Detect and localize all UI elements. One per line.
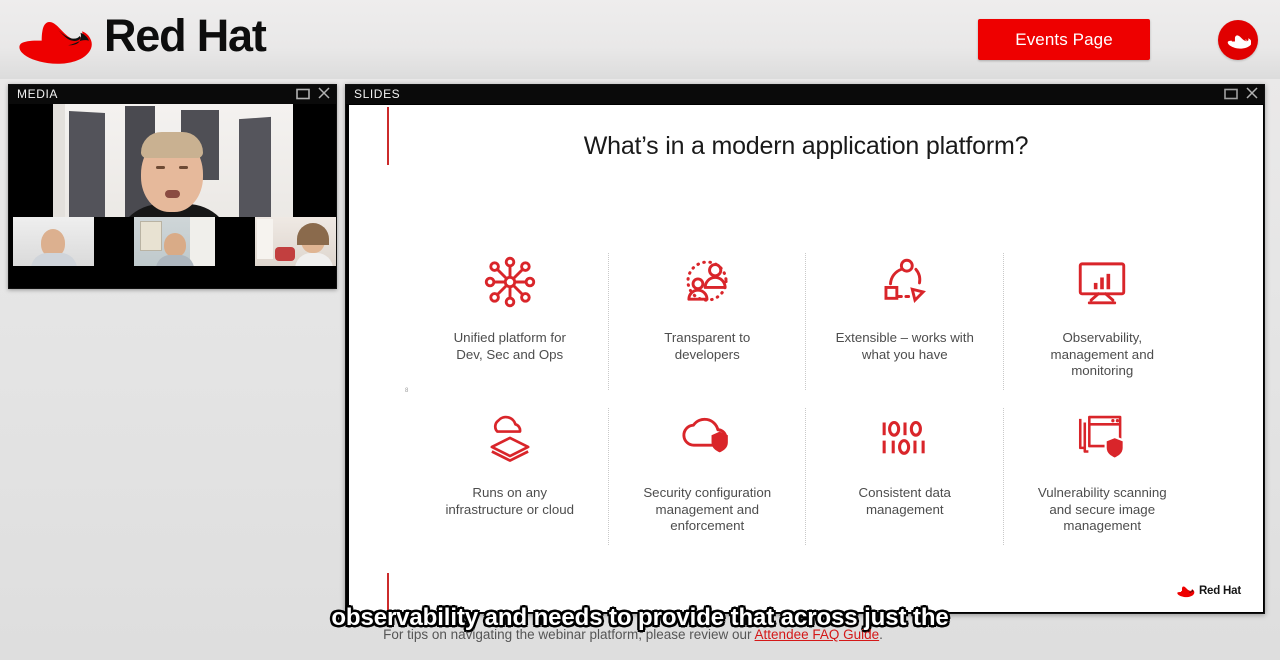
feature-cell: Extensible – works withwhat you have	[806, 245, 1004, 400]
feature-cell: Consistent datamanagement	[806, 400, 1004, 555]
redhat-shadowman-icon[interactable]	[1218, 20, 1258, 60]
brand-logo: Red Hat	[8, 5, 266, 67]
media-panel-titlebar: MEDIA	[9, 85, 336, 104]
close-icon[interactable]	[1245, 86, 1259, 105]
monitor-bar-chart-icon	[1073, 245, 1131, 319]
slide-number: 8	[405, 388, 408, 394]
participant-thumbnails	[9, 217, 336, 266]
slides-panel: SLIDES What’s in a modern application pl…	[345, 84, 1265, 614]
shapes-triangle-circle-square-icon	[876, 245, 934, 319]
feature-label: Extensible – works withwhat you have	[836, 330, 974, 363]
webinar-tips-text: For tips on navigating the webinar platf…	[0, 627, 1280, 642]
stacked-windows-shield-icon	[1073, 400, 1131, 474]
slides-panel-titlebar: SLIDES	[346, 85, 1264, 104]
tips-suffix: .	[879, 627, 883, 642]
slides-panel-title: SLIDES	[354, 87, 400, 101]
list-item[interactable]	[13, 217, 94, 266]
feature-label: Security configurationmanagement andenfo…	[643, 485, 771, 535]
feature-label: Vulnerability scanningand secure imagema…	[1038, 485, 1167, 535]
restore-window-icon[interactable]	[296, 87, 310, 105]
slide-accent-bar-bottom	[387, 573, 389, 612]
restore-window-icon[interactable]	[1224, 87, 1238, 105]
redhat-fedora-logo-icon	[8, 5, 94, 67]
thumbnail-gap	[94, 217, 134, 266]
two-people-circular-arrow-icon	[678, 245, 736, 319]
brand-name: Red Hat	[104, 10, 266, 62]
attendee-faq-guide-link[interactable]: Attendee FAQ Guide	[755, 627, 880, 642]
slide-canvas[interactable]: What’s in a modern application platform?	[349, 105, 1263, 612]
feature-label: Runs on anyinfrastructure or cloud	[445, 485, 574, 518]
feature-label: Consistent datamanagement	[859, 485, 951, 518]
feature-grid: Unified platform forDev, Sec and Ops	[411, 245, 1201, 555]
media-panel-title: MEDIA	[17, 87, 58, 101]
cloud-shield-icon	[678, 400, 736, 474]
feature-cell: Runs on anyinfrastructure or cloud	[411, 400, 609, 555]
cloud-layers-icon	[481, 400, 539, 474]
feature-cell: Security configurationmanagement andenfo…	[609, 400, 807, 555]
page-title: What’s in a modern application platform?	[349, 132, 1263, 161]
feature-label: Observability,management andmonitoring	[1051, 330, 1155, 380]
feature-label: Unified platform forDev, Sec and Ops	[454, 330, 566, 363]
slide-footer-logo-text: Red Hat	[1199, 585, 1241, 597]
slide-footer-logo: Red Hat	[1175, 584, 1241, 598]
app-header: Red Hat Events Page	[0, 0, 1280, 79]
media-panel: MEDIA	[8, 84, 337, 289]
feature-cell: Unified platform forDev, Sec and Ops	[411, 245, 609, 400]
binary-data-icon	[876, 400, 934, 474]
close-icon[interactable]	[317, 86, 331, 105]
feature-cell: Observability,management andmonitoring	[1004, 245, 1202, 400]
events-page-button[interactable]: Events Page	[978, 19, 1150, 60]
feature-cell: Vulnerability scanningand secure imagema…	[1004, 400, 1202, 555]
media-stage	[9, 104, 336, 269]
feature-label: Transparent todevelopers	[664, 330, 750, 363]
list-item[interactable]	[134, 217, 215, 266]
hub-and-spoke-network-icon	[481, 245, 539, 319]
thumbnail-gap	[215, 217, 255, 266]
list-item[interactable]	[255, 217, 336, 266]
tips-prefix: For tips on navigating the webinar platf…	[383, 627, 754, 642]
redhat-fedora-logo-icon	[1175, 584, 1195, 598]
feature-cell: Transparent todevelopers	[609, 245, 807, 400]
